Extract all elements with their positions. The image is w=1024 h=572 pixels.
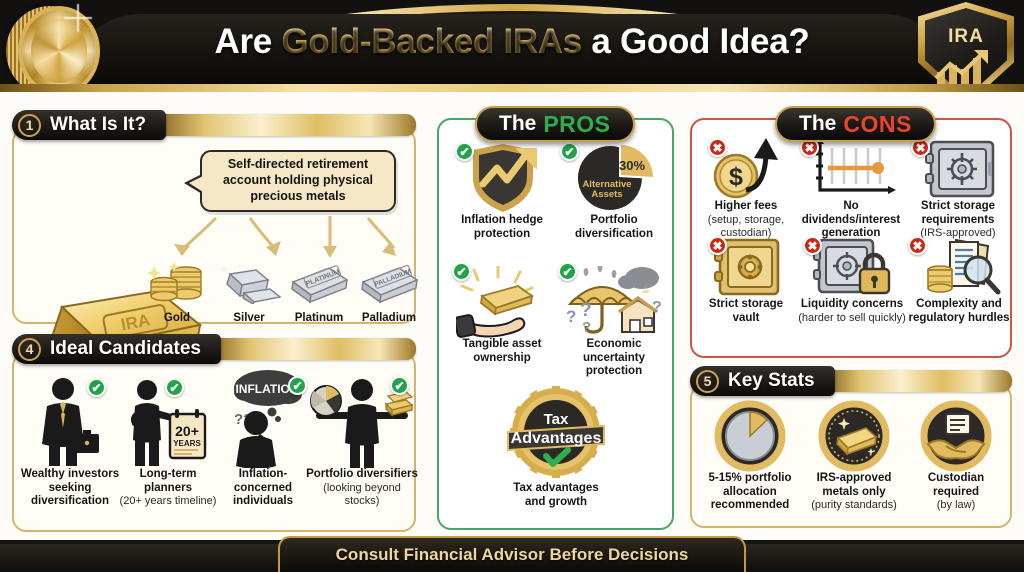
- check-badge: ✔: [455, 142, 474, 161]
- svg-text:?: ?: [582, 319, 591, 336]
- umbrella-house-icon: ?? ??: [564, 266, 664, 338]
- cross-badge: ✖: [708, 236, 727, 255]
- shield-badge-label: IRA: [918, 26, 1014, 48]
- footer-left-wing: [0, 544, 290, 572]
- pro-label: Economic: [559, 338, 669, 352]
- con-label: Strict storage requirements: [906, 200, 1010, 227]
- footer-text: Consult Financial Advisor Before Decisio…: [336, 545, 689, 565]
- flow-arrows: [154, 214, 414, 264]
- pros-heading: The PROS: [475, 106, 635, 142]
- check-badge: ✔: [288, 376, 307, 395]
- key-stat-label: 5-15% portfolio allocation recommended: [698, 472, 802, 513]
- section-ribbon: [213, 338, 416, 360]
- cross-badge: ✖: [908, 236, 927, 255]
- svg-text:Assets: Assets: [591, 189, 622, 200]
- pro-label-2: ownership: [449, 352, 555, 366]
- panel-key-stats: 5-15% portfolio allocation recommended I…: [690, 384, 1012, 528]
- gold-coins-icon: [142, 260, 212, 304]
- candidate-label: Inflation-concerned individuals: [220, 468, 306, 509]
- section-ribbon: [827, 370, 1012, 392]
- panel-pros: ✔ Inflation hedge protection 30% Alterna…: [437, 118, 674, 530]
- metal-label: Silver: [210, 312, 288, 324]
- cons-heading-prefix: The: [799, 112, 836, 136]
- pie-allocation-coin-icon: [712, 400, 788, 472]
- check-badge: ✔: [452, 262, 471, 281]
- con-label: Higher fees: [696, 200, 796, 214]
- svg-text:YEARS: YEARS: [173, 439, 201, 448]
- hand-gold-bar-icon: [456, 266, 548, 338]
- section-title: What Is It?: [50, 114, 146, 136]
- candidate-item: 20+ YEARS ✔ Long-term planners (20+ year…: [120, 376, 216, 508]
- con-item: ✖ Complexity and regulatory hurdles: [908, 236, 1010, 325]
- cons-heading-accent: CONS: [843, 111, 911, 138]
- check-badge: ✔: [165, 378, 184, 397]
- key-stat-item: 5-15% portfolio allocation recommended: [698, 400, 802, 513]
- pro-item: ✔ Inflation hedge protection: [449, 142, 555, 241]
- page-title: Are Gold-Backed IRAs a Good Idea?: [0, 22, 1024, 62]
- candidate-item: INFLATION ?? ✔ Inflation-concerned indiv…: [220, 368, 306, 509]
- candidate-label: Long-term planners: [120, 468, 216, 495]
- title-part-1: Are: [215, 22, 282, 61]
- metal-gold: Gold: [138, 260, 216, 324]
- pro-label: Tangible asset: [449, 338, 555, 352]
- candidate-sub: (looking beyond stocks): [306, 482, 418, 508]
- footer-right-wing: [734, 544, 1024, 572]
- palladium-bar-icon: PALLADIUM: [353, 260, 425, 304]
- safe-icon: [919, 138, 997, 200]
- silver-bars-icon: [214, 260, 284, 304]
- pro-item: ?? ?? ✔ Economic uncertainty protection: [559, 266, 669, 379]
- pros-heading-accent: PROS: [543, 111, 610, 138]
- panel-ideal-candidates: ✔ Wealthy investors seeking diversificat…: [12, 352, 416, 532]
- metal-label: Platinum: [280, 312, 358, 324]
- metal-label: Palladium: [350, 312, 428, 324]
- con-item: ✖ Liquidity concerns (harder to sell qui…: [798, 236, 906, 325]
- svg-text:?: ?: [580, 300, 592, 321]
- metal-silver: Silver: [210, 260, 288, 324]
- title-gold-part: Gold-Backed IRAs: [281, 22, 582, 61]
- section-number: 1: [18, 114, 41, 137]
- svg-text:Advantages: Advantages: [511, 430, 602, 447]
- callout-bubble: Self-directed retirement account holding…: [200, 150, 396, 212]
- section-title: Ideal Candidates: [50, 338, 201, 360]
- check-badge: ✔: [560, 142, 579, 161]
- pro-label-3: protection: [559, 365, 669, 379]
- footer-disclaimer: Consult Financial Advisor Before Decisio…: [278, 536, 746, 572]
- tax-caption-1: Tax advantages: [491, 482, 621, 496]
- con-sub: (harder to sell quickly): [795, 312, 909, 325]
- pro-item: ✔ Tangible asset ownership: [449, 266, 555, 365]
- con-item: $ ✖ Higher fees (setup, storage, custodi…: [696, 138, 796, 240]
- callout-text: Self-directed retirement account holding…: [202, 157, 394, 204]
- con-item: ✖ Strict storage vault: [696, 236, 796, 325]
- pie-chart-icon: 30% Alternative Assets: [566, 142, 662, 214]
- handshake-document-coin-icon: [918, 400, 994, 472]
- metal-platinum: PLATINUM Platinum: [280, 260, 358, 324]
- key-stat-item: IRS-approved metals only (purity standar…: [804, 400, 904, 512]
- check-badge: ✔: [390, 376, 409, 395]
- cross-badge: ✖: [708, 138, 727, 157]
- section-number: 4: [18, 338, 41, 361]
- metal-label: Gold: [138, 312, 216, 324]
- tax-caption-2: and growth: [491, 496, 621, 510]
- con-label: Strict storage vault: [696, 298, 796, 325]
- section-header-key-stats: 5 Key Stats: [690, 366, 1012, 396]
- con-label: No dividends/interest generation: [796, 200, 906, 241]
- section-number: 5: [696, 370, 719, 393]
- svg-text:?: ?: [652, 299, 662, 316]
- pro-label-2: protection: [449, 228, 555, 242]
- cross-badge: ✖: [803, 236, 822, 255]
- section-header-ideal-candidates: 4 Ideal Candidates: [12, 334, 416, 364]
- cons-heading: The CONS: [775, 106, 936, 142]
- con-label: Liquidity concerns: [798, 298, 906, 312]
- key-stat-label: IRS-approved metals only: [804, 472, 904, 499]
- svg-text:20+: 20+: [175, 423, 199, 439]
- pros-heading-prefix: The: [499, 112, 536, 136]
- pro-label: Inflation hedge: [449, 214, 555, 228]
- key-stat-item: Custodian required (by law): [906, 400, 1006, 512]
- check-badge: ✔: [87, 378, 106, 397]
- pro-label-2: uncertainty: [559, 352, 669, 366]
- pie-data-label: 30%: [619, 158, 645, 173]
- candidate-item: ✔ Wealthy investors seeking diversificat…: [18, 376, 122, 509]
- panel-cons: $ ✖ Higher fees (setup, storage, custodi…: [690, 118, 1012, 358]
- infographic-page: Are Gold-Backed IRAs a Good Idea? IRA 1 …: [0, 0, 1024, 572]
- metal-palladium: PALLADIUM Palladium: [350, 260, 428, 324]
- candidate-sub: (20+ years timeline): [116, 495, 220, 508]
- section-title: Key Stats: [728, 370, 815, 392]
- shield-growth-icon: IRA: [918, 2, 1014, 92]
- key-stat-sub: (by law): [906, 499, 1006, 512]
- title-part-2: a Good Idea?: [582, 22, 810, 61]
- candidate-item: ✔ Portfolio diversifiers (looking beyond…: [306, 374, 418, 508]
- candidate-label: Portfolio diversifiers: [306, 468, 418, 482]
- check-badge: ✔: [558, 262, 577, 281]
- tax-advantages-seal-icon: Tax Advantages: [500, 386, 612, 482]
- con-label: Complexity and regulatory hurdles: [908, 298, 1010, 325]
- section-header-what-is-it: 1 What Is It?: [12, 110, 416, 140]
- pro-label-2: diversification: [559, 228, 669, 242]
- con-item: ✖ Strict storage requirements (IRS-appro…: [906, 138, 1010, 240]
- svg-text:Tax: Tax: [544, 411, 569, 428]
- tax-advantages-block: Tax Advantages Tax advantages and growth: [491, 386, 621, 509]
- header-gold-rule: [0, 84, 1024, 92]
- section-ribbon: [158, 114, 416, 136]
- svg-text:$: $: [729, 163, 743, 191]
- key-stat-label: Custodian required: [906, 472, 1006, 499]
- gold-bar-coin-icon: [816, 400, 892, 472]
- key-stat-sub: (purity standards): [802, 499, 906, 512]
- pro-label: Portfolio: [559, 214, 669, 228]
- platinum-bar-icon: PLATINUM: [283, 260, 355, 304]
- documents-magnifier-icon: [916, 236, 1002, 298]
- header-banner: Are Gold-Backed IRAs a Good Idea? IRA: [0, 0, 1024, 92]
- panel-what-is-it: IRA Self-directed retirement account hol…: [12, 128, 416, 324]
- candidate-label: Wealthy investors seeking diversificatio…: [18, 468, 122, 509]
- flat-line-chart-icon: [806, 138, 896, 200]
- svg-text:?: ?: [566, 307, 576, 326]
- pro-item: 30% Alternative Assets ✔ Portfolio diver…: [559, 142, 669, 241]
- con-item: ✖ No dividends/interest generation: [798, 138, 904, 241]
